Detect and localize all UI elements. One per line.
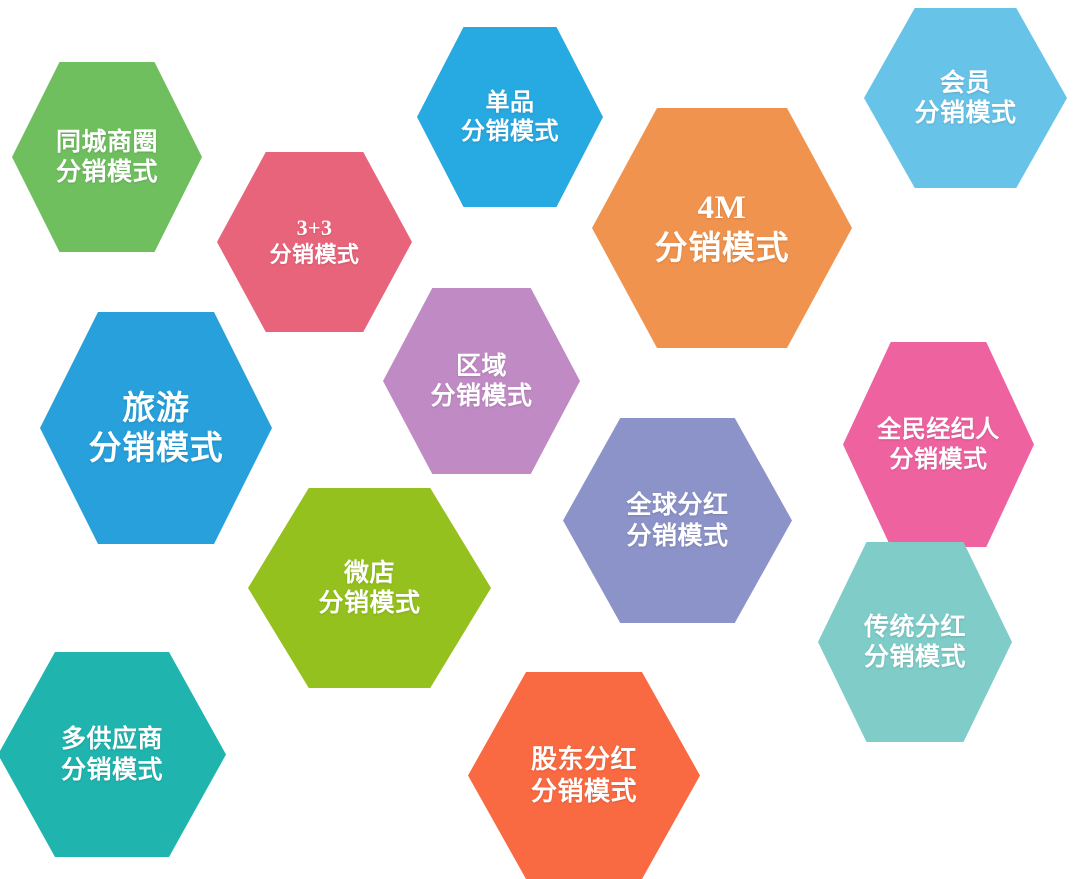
hexagon-label-secondary: 分销模式 bbox=[531, 776, 637, 808]
hexagon-label-secondary: 分销模式 bbox=[461, 117, 559, 146]
hexagon-four-m[interactable]: 4M分销模式 bbox=[592, 108, 852, 348]
hexagon-label-secondary: 分销模式 bbox=[430, 381, 532, 412]
hexagon-three-plus-three[interactable]: 3+3分销模式 bbox=[217, 152, 412, 332]
hexagon-label-primary: 单品 bbox=[486, 88, 535, 117]
hexagon-label-primary: 会员 bbox=[940, 68, 991, 99]
hexagon-label-secondary: 分销模式 bbox=[56, 157, 158, 188]
hexagon-lvyou[interactable]: 旅游分销模式 bbox=[40, 312, 272, 544]
hexagon-label-primary: 3+3 bbox=[297, 215, 333, 242]
hexagon-danpin[interactable]: 单品分销模式 bbox=[417, 27, 603, 207]
hexagon-label-secondary: 分销模式 bbox=[626, 521, 728, 552]
hexagon-gudong-fenhong[interactable]: 股东分红分销模式 bbox=[468, 672, 700, 879]
hexagon-label-primary: 4M bbox=[698, 188, 747, 228]
hexagon-tongcheng-shangquan[interactable]: 同城商圈分销模式 bbox=[12, 62, 202, 252]
hexagon-quanqiu-fenhong[interactable]: 全球分红分销模式 bbox=[563, 418, 792, 623]
hexagon-label-primary: 传统分红 bbox=[864, 612, 966, 643]
hexagon-label-secondary: 分销模式 bbox=[914, 98, 1016, 129]
hexagon-label-primary: 多供应商 bbox=[61, 724, 163, 755]
hexagon-label-primary: 同城商圈 bbox=[56, 127, 158, 158]
hexagon-quanmin-jingjiren[interactable]: 全民经纪人分销模式 bbox=[843, 342, 1034, 547]
hexagon-label-secondary: 分销模式 bbox=[270, 242, 360, 269]
hexagon-label-primary: 全民经纪人 bbox=[877, 415, 999, 444]
hexagon-label-secondary: 分销模式 bbox=[61, 755, 163, 786]
hexagon-label-secondary: 分销模式 bbox=[318, 588, 420, 619]
hexagon-weidian[interactable]: 微店分销模式 bbox=[248, 488, 491, 688]
hexagon-huiyuan[interactable]: 会员分销模式 bbox=[864, 8, 1067, 188]
hexagon-label-primary: 股东分红 bbox=[531, 744, 637, 776]
hexagon-label-secondary: 分销模式 bbox=[890, 445, 988, 474]
hexagon-duo-gongyingshang[interactable]: 多供应商分销模式 bbox=[0, 652, 226, 857]
hexagon-label-primary: 微店 bbox=[344, 558, 395, 589]
hexagon-label-primary: 区域 bbox=[456, 351, 507, 382]
hexagon-chuantong-fenhong[interactable]: 传统分红分销模式 bbox=[818, 542, 1012, 742]
hexagon-label-primary: 旅游 bbox=[122, 388, 189, 428]
hexagon-label-secondary: 分销模式 bbox=[864, 642, 966, 673]
hexagon-quyu[interactable]: 区域分销模式 bbox=[383, 288, 580, 474]
hexagon-diagram-canvas: 同城商圈分销模式单品分销模式会员分销模式3+3分销模式4M分销模式旅游分销模式区… bbox=[0, 0, 1076, 879]
hexagon-label-secondary: 分销模式 bbox=[89, 428, 224, 468]
hexagon-label-secondary: 分销模式 bbox=[655, 228, 790, 268]
hexagon-label-primary: 全球分红 bbox=[626, 490, 728, 521]
